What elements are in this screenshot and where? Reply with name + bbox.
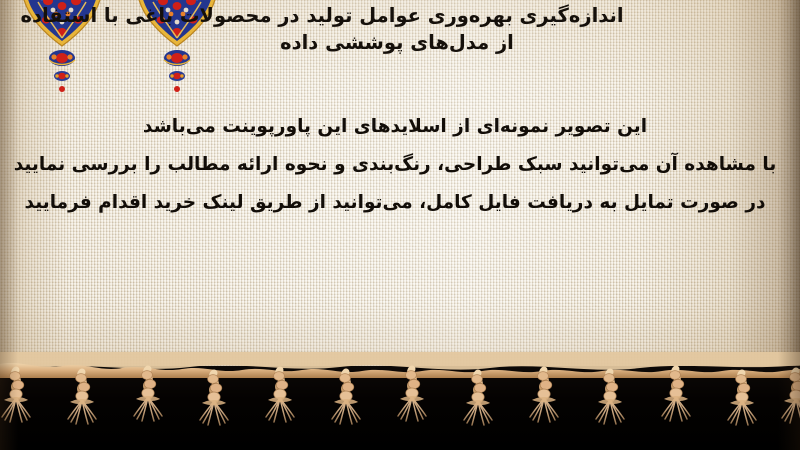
body-line-3: در صورت تمایل به دریافت فایل کامل، می‌تو… <box>0 184 790 222</box>
presentation-slide: اندازه‌گیری بهره‌وری عوامل تولید در محصو… <box>0 0 800 450</box>
slide-title: اندازه‌گیری بهره‌وری عوامل تولید در محصو… <box>0 2 794 56</box>
slide-body-text: این تصویر نمونه‌ای از اسلایدهای این پاور… <box>0 108 790 222</box>
body-line-2: با مشاهده آن می‌توانید سبک طراحی، رنگ‌بن… <box>0 146 790 184</box>
black-backdrop <box>0 366 800 450</box>
body-line-1: این تصویر نمونه‌ای از اسلایدهای این پاور… <box>0 108 790 146</box>
slide-title-line-2: از مدل‌های پوششی داده <box>0 29 794 56</box>
slide-title-line-1: اندازه‌گیری بهره‌وری عوامل تولید در محصو… <box>0 2 794 29</box>
